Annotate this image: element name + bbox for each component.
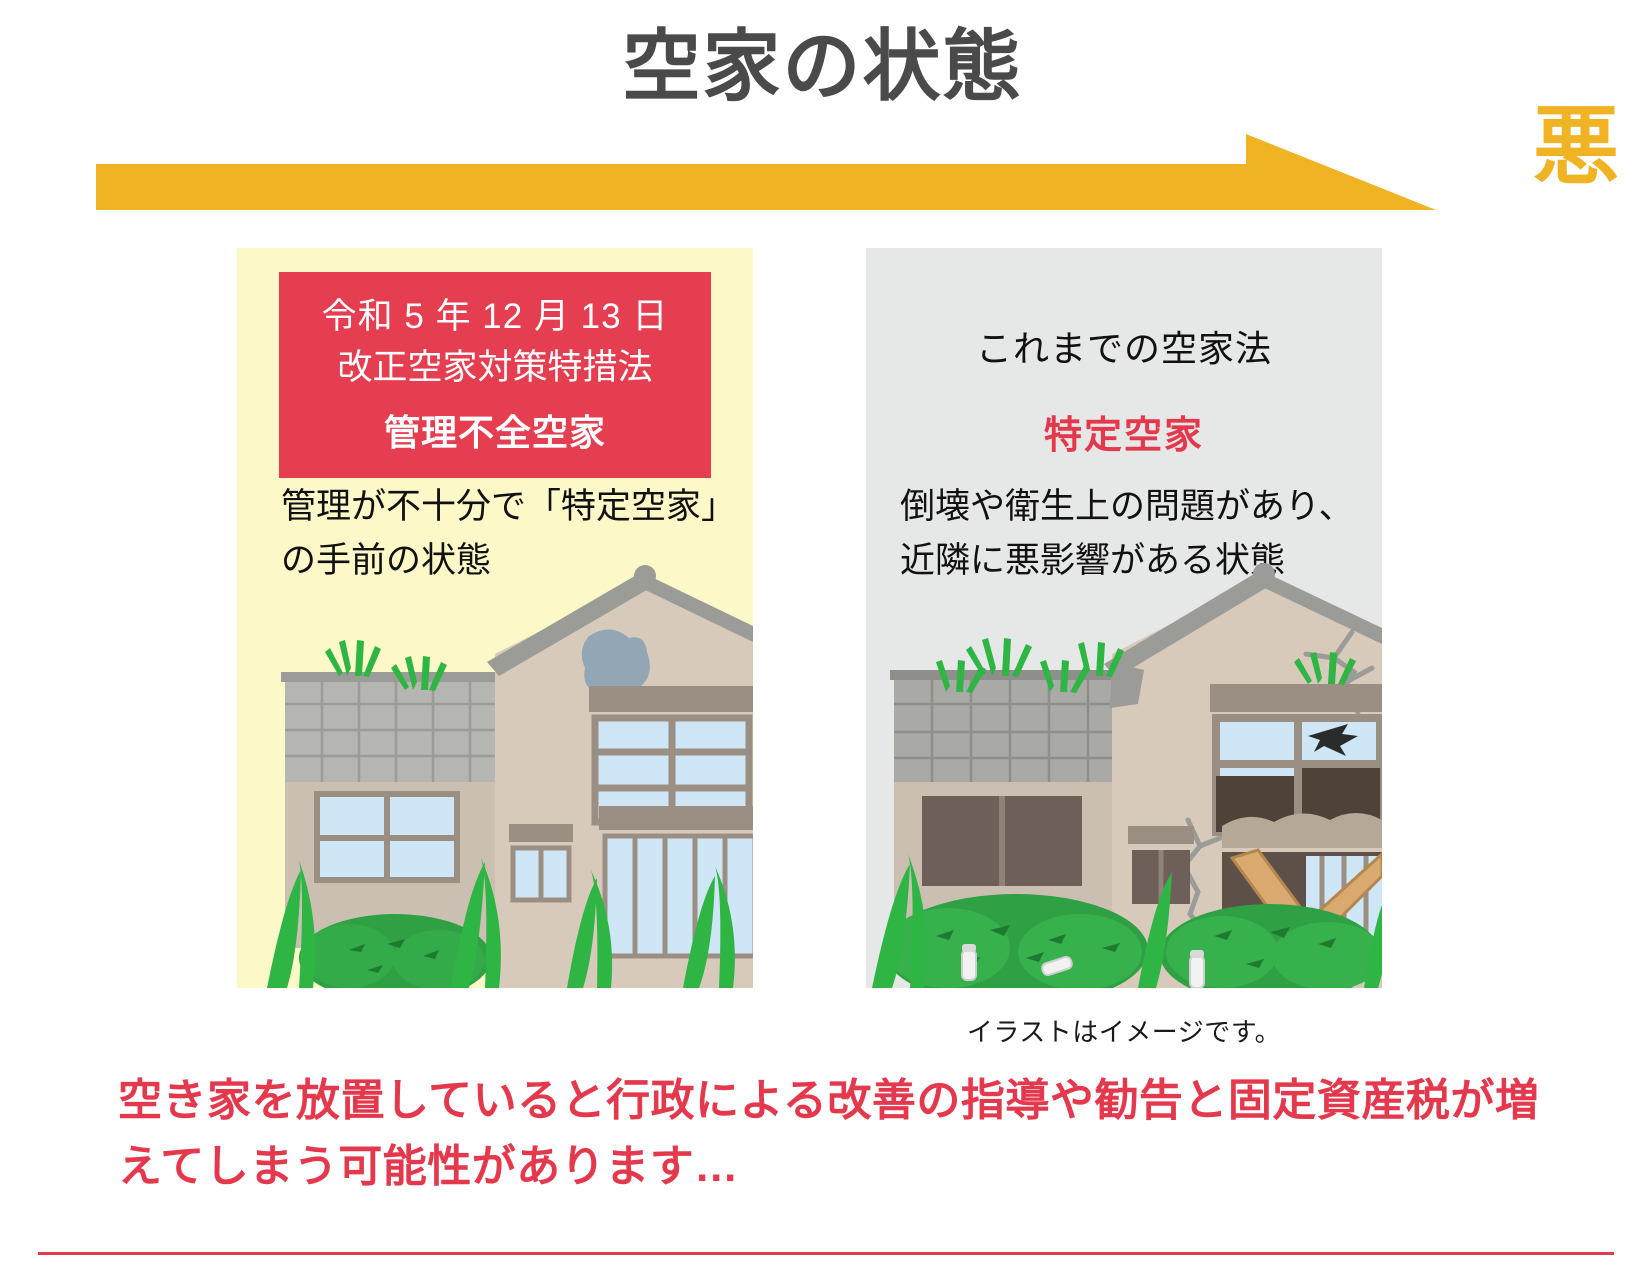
- page-title: 空家の状態: [0, 20, 1645, 114]
- footer-divider: [38, 1252, 1614, 1255]
- semi-neglected-house-illustration: [237, 558, 753, 988]
- footer-warning-message: 空き家を放置していると行政による改善の指導や勧告と固定資産税が増えてしまう可能性…: [118, 1068, 1578, 1200]
- badge-date: 令和 5 年 12 月 13 日: [289, 292, 701, 343]
- right-panel-header: これまでの空家法 特定空家: [866, 320, 1382, 459]
- severity-arrow: [96, 118, 1436, 210]
- arrow-label-bad: 悪: [1533, 104, 1619, 190]
- right-panel-term-label: 特定空家: [866, 404, 1382, 459]
- badge-law-name: 改正空家対策特措法: [289, 343, 701, 394]
- dilapidated-house-illustration: [866, 558, 1382, 988]
- badge-term-label: 管理不全空家: [289, 404, 701, 456]
- status-badge-new-law: 令和 5 年 12 月 13 日 改正空家対策特措法 管理不全空家: [279, 272, 711, 478]
- arrow-shape-icon: [96, 118, 1436, 210]
- right-panel-law-label: これまでの空家法: [866, 320, 1382, 372]
- panel-tokutei-akiya: これまでの空家法 特定空家 倒壊や衛生上の問題があり、近隣に悪影響がある状態: [866, 248, 1382, 988]
- panel-kanri-fuzen-akiya: 令和 5 年 12 月 13 日 改正空家対策特措法 管理不全空家 管理が不十分…: [237, 248, 753, 988]
- illustration-disclaimer-caption: イラストはイメージです。: [866, 1012, 1382, 1049]
